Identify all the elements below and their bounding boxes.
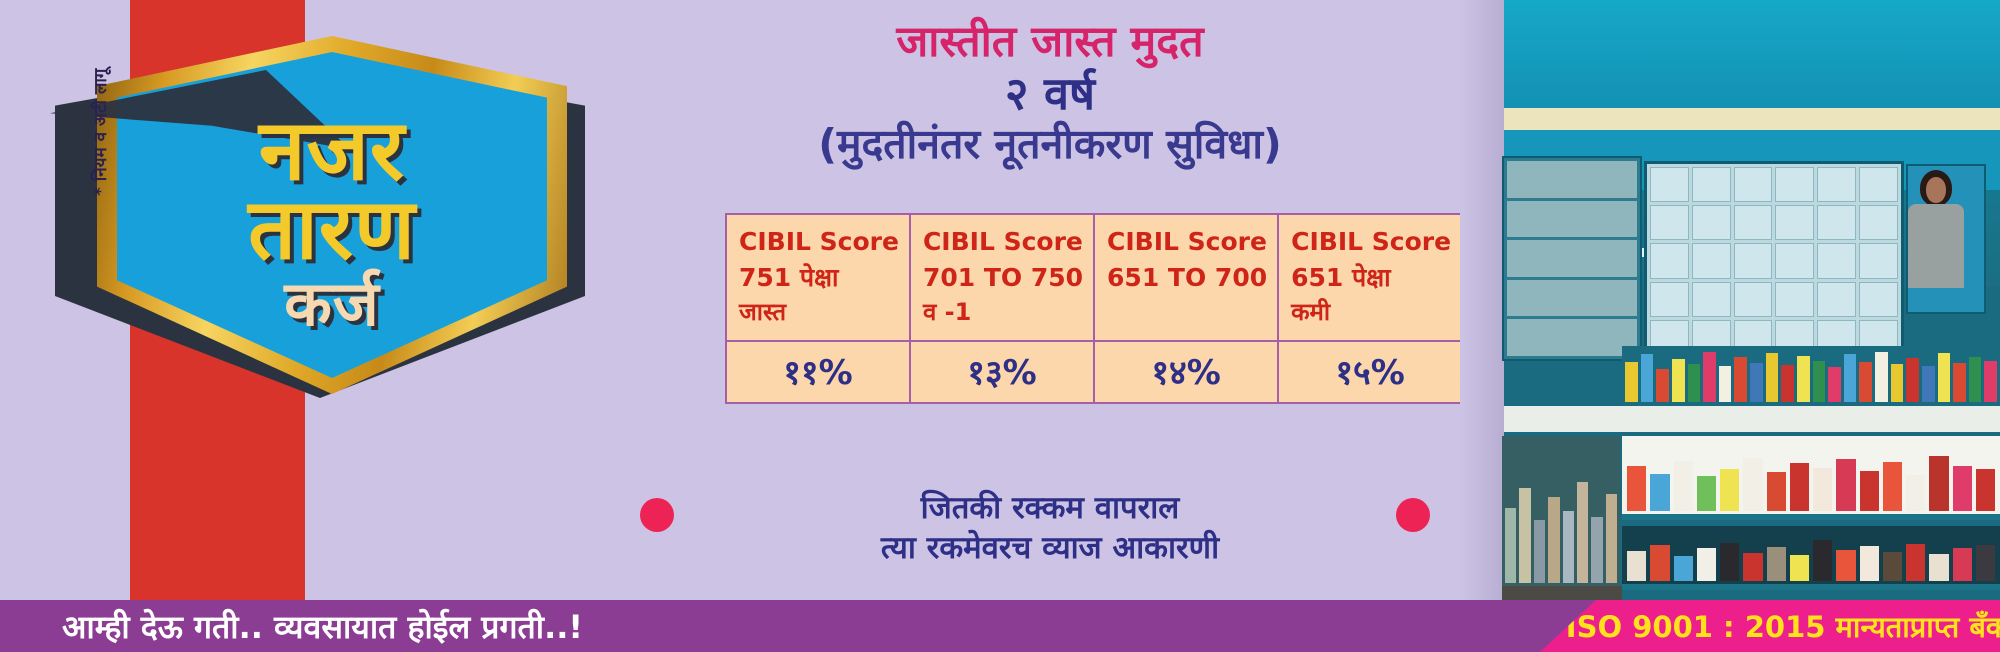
bank-tagline: आम्ही देऊ गती.. व्यवसायात होईल प्रगती..! bbox=[62, 605, 583, 648]
terms-conditions-note: * नियम व अटी लागू bbox=[88, 69, 111, 196]
score-range-1: 751 पेक्षा bbox=[739, 260, 899, 296]
logo-line-2: तारण bbox=[248, 191, 416, 268]
interest-rate-2: १३% bbox=[967, 353, 1036, 393]
logo-panel: नजर तारण कर्ज * नियम व अटी लागू bbox=[0, 0, 640, 600]
photo-left-bottle-shelf bbox=[1502, 436, 1620, 586]
interest-rate-3: १४% bbox=[1151, 353, 1220, 393]
interest-note-line-1: जितकी रक्कम वापराल bbox=[640, 488, 1460, 528]
table-cell-rate-3: १४% bbox=[1094, 341, 1278, 403]
table-row-interest-rate: ११% १३% १४% १५% bbox=[726, 341, 1462, 403]
offer-details-section: जास्तीत जास्त मुदत २ वर्ष (मुदतीनंतर नूत… bbox=[640, 0, 1460, 600]
cibil-score-rate-table: CIBIL Score 751 पेक्षा जास्त CIBIL Score… bbox=[725, 213, 1463, 404]
shop-interior-photo bbox=[1460, 0, 2000, 600]
table-cell-rate-1: ११% bbox=[726, 341, 910, 403]
logo-line-3: कर्ज bbox=[284, 275, 380, 332]
advertisement-banner: नजर तारण कर्ज * नियम व अटी लागू जास्तीत … bbox=[0, 0, 2000, 652]
photo-hanging-sachet-rack bbox=[1622, 346, 2000, 404]
photo-wall-pillar bbox=[1460, 0, 1504, 600]
photo-product-shelf-upper bbox=[1622, 436, 2000, 520]
photo-shopkeeper-figure bbox=[1904, 170, 1966, 286]
photo-product-shelf-lower bbox=[1622, 526, 2000, 590]
table-cell-rate-2: १३% bbox=[910, 341, 1094, 403]
photo-awning-upper bbox=[1504, 0, 2000, 108]
score-range-4: 651 पेक्षा bbox=[1291, 260, 1451, 296]
photo-left-glass-shelf bbox=[1502, 156, 1642, 361]
iso-certification-block: ISO 9001 : 2015 मान्यताप्राप्त बँक bbox=[1540, 600, 2000, 652]
score-label-4: CIBIL Score bbox=[1291, 224, 1451, 260]
interest-note: जितकी रक्कम वापराल त्या रकमेवरच व्याज आक… bbox=[640, 488, 1460, 569]
photo-glass-cabinet bbox=[1644, 161, 1904, 361]
table-cell-score-4: CIBIL Score 651 पेक्षा कमी bbox=[1278, 214, 1462, 341]
interest-note-line-2: त्या रकमेवरच व्याज आकारणी bbox=[640, 528, 1460, 568]
logo-line-1: नजर bbox=[259, 112, 405, 189]
score-qualifier-1: जास्त bbox=[739, 295, 899, 329]
photo-interior bbox=[1504, 286, 2000, 600]
score-label-2: CIBIL Score bbox=[923, 224, 1083, 260]
score-label-1: CIBIL Score bbox=[739, 224, 899, 260]
shield-emblem: नजर तारण कर्ज bbox=[55, 28, 585, 400]
score-range-3: 651 TO 700 bbox=[1107, 260, 1267, 296]
photo-person-torso bbox=[1908, 204, 1964, 288]
score-label-3: CIBIL Score bbox=[1107, 224, 1267, 260]
photo-signboard-band bbox=[1504, 108, 2000, 130]
iso-certification-text: ISO 9001 : 2015 मान्यताप्राप्त बँक bbox=[1532, 607, 2000, 646]
heading-max-tenure: जास्तीत जास्त मुदत bbox=[640, 10, 1460, 69]
score-qualifier-4: कमी bbox=[1291, 295, 1451, 329]
interest-rate-1: ११% bbox=[783, 353, 852, 393]
table-cell-score-1: CIBIL Score 751 पेक्षा जास्त bbox=[726, 214, 910, 341]
table-cell-score-3: CIBIL Score 651 TO 700 bbox=[1094, 214, 1278, 341]
photo-person-face bbox=[1926, 177, 1946, 203]
photo-counter-top bbox=[1504, 406, 2000, 432]
heading-renewal-facility: (मुदतीनंतर नूतनीकरण सुविधा) bbox=[640, 115, 1460, 171]
logo-text-group: नजर तारण कर्ज bbox=[117, 62, 547, 382]
bottom-bar: आम्ही देऊ गती.. व्यवसायात होईल प्रगती..!… bbox=[0, 600, 2000, 652]
table-cell-rate-4: १५% bbox=[1278, 341, 1462, 403]
score-qualifier-2: व -1 bbox=[923, 295, 1083, 329]
interest-rate-4: १५% bbox=[1335, 353, 1404, 393]
score-range-2: 701 TO 750 bbox=[923, 260, 1083, 296]
photo-floor bbox=[1502, 586, 1622, 600]
heading-tenure-value: २ वर्ष bbox=[640, 62, 1460, 123]
table-cell-score-2: CIBIL Score 701 TO 750 व -1 bbox=[910, 214, 1094, 341]
table-row-score: CIBIL Score 751 पेक्षा जास्त CIBIL Score… bbox=[726, 214, 1462, 341]
